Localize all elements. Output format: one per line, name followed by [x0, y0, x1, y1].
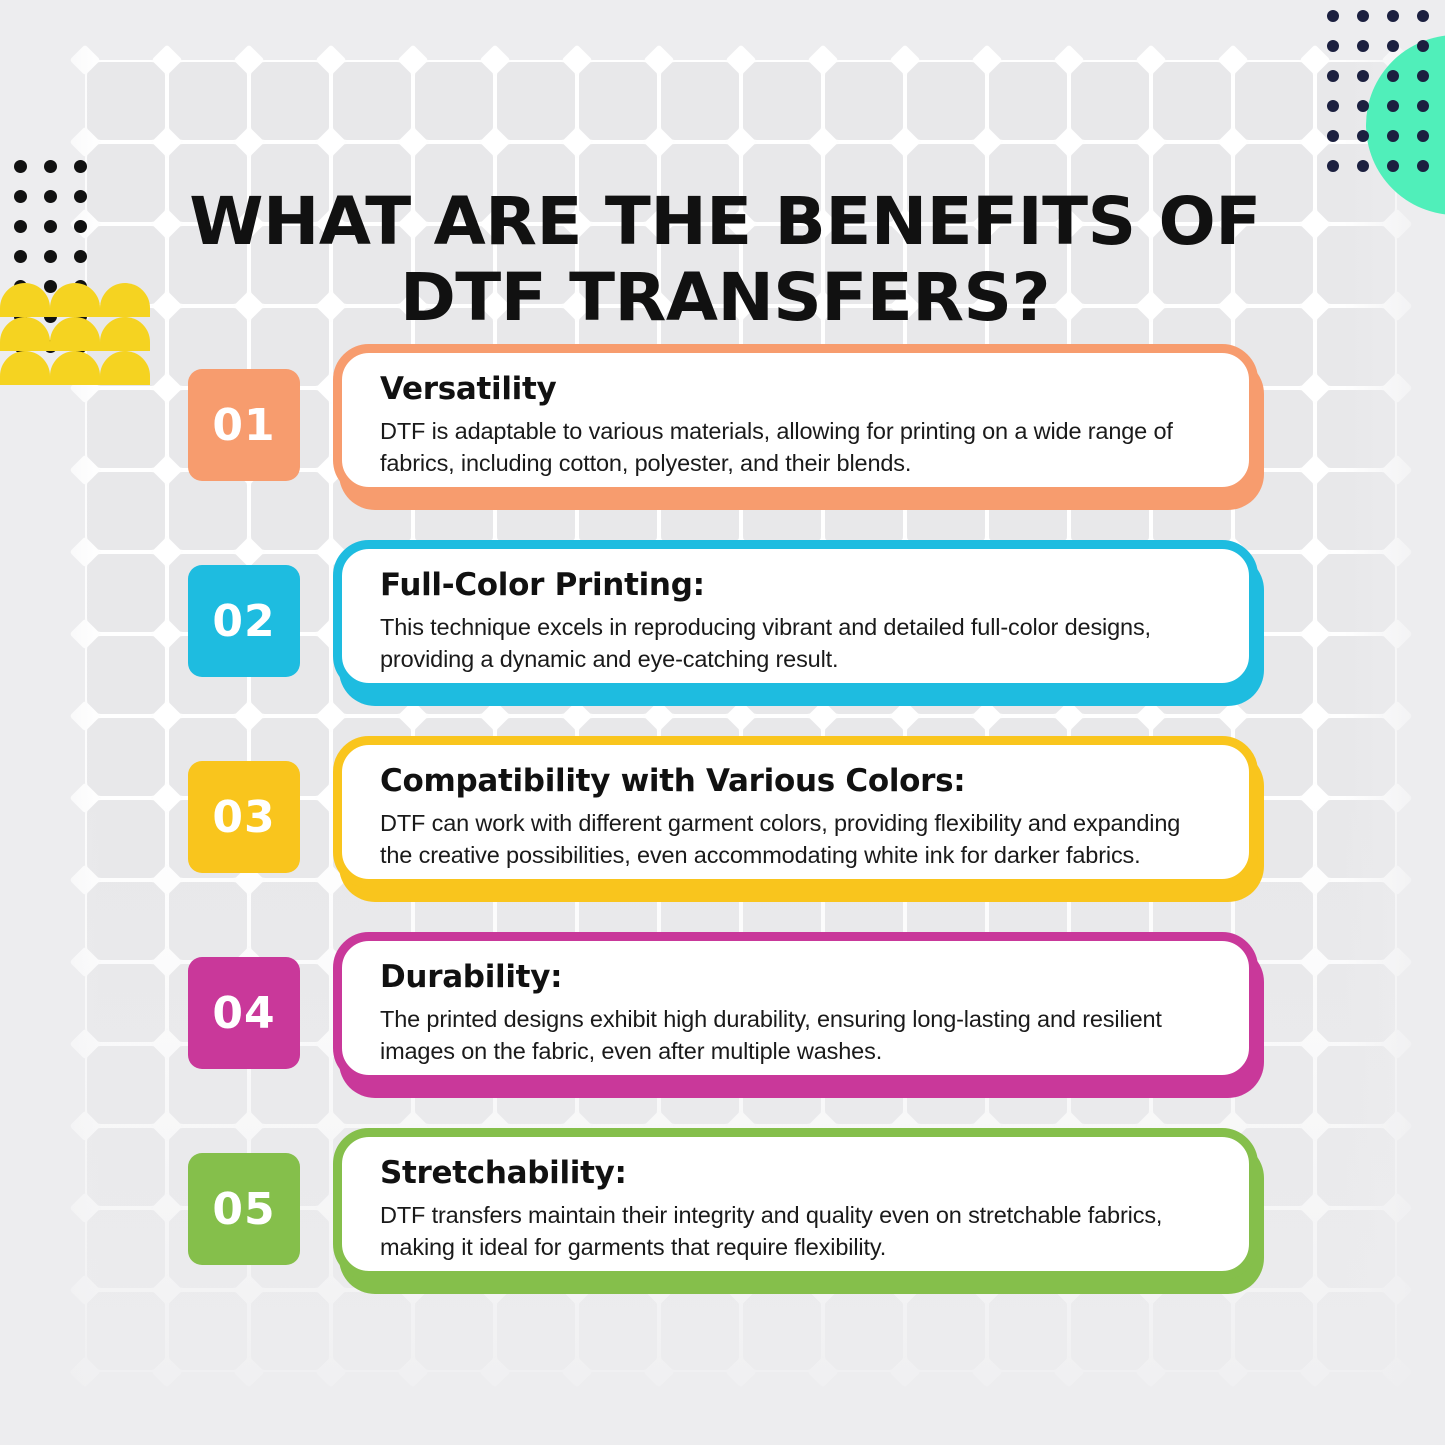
benefit-card-content: Stretchability:DTF transfers maintain th… [342, 1137, 1249, 1271]
benefits-list: 01VersatilityDTF is adaptable to various… [0, 0, 1445, 1445]
benefit-description: DTF is adaptable to various materials, a… [380, 415, 1217, 479]
benefit-item: 01VersatilityDTF is adaptable to various… [188, 344, 1278, 520]
benefit-card: Durability:The printed designs exhibit h… [333, 932, 1258, 1084]
benefit-item: 04Durability:The printed designs exhibit… [188, 932, 1278, 1108]
benefit-card-content: Compatibility with Various Colors:DTF ca… [342, 745, 1249, 879]
benefit-card-content: Durability:The printed designs exhibit h… [342, 941, 1249, 1075]
benefit-title: Stretchability: [380, 1153, 1217, 1193]
benefit-number-badge: 03 [188, 761, 300, 873]
benefit-number-label: 02 [212, 596, 275, 647]
benefit-card: Compatibility with Various Colors:DTF ca… [333, 736, 1258, 888]
benefit-description: The printed designs exhibit high durabil… [380, 1003, 1217, 1067]
benefit-title: Compatibility with Various Colors: [380, 761, 1217, 801]
benefit-number-label: 03 [212, 792, 275, 843]
benefit-number-label: 04 [212, 988, 275, 1039]
benefit-item: 03Compatibility with Various Colors:DTF … [188, 736, 1278, 912]
benefit-card-content: Full-Color Printing:This technique excel… [342, 549, 1249, 683]
benefit-description: DTF transfers maintain their integrity a… [380, 1199, 1217, 1263]
benefit-item: 05Stretchability:DTF transfers maintain … [188, 1128, 1278, 1304]
benefit-number-badge: 01 [188, 369, 300, 481]
benefit-title: Durability: [380, 957, 1217, 997]
benefit-number-badge: 04 [188, 957, 300, 1069]
benefit-title: Full-Color Printing: [380, 565, 1217, 605]
benefit-number-badge: 02 [188, 565, 300, 677]
benefit-number-label: 05 [212, 1184, 275, 1235]
benefit-number-label: 01 [212, 400, 275, 451]
benefit-description: This technique excels in reproducing vib… [380, 611, 1217, 675]
benefit-card: Stretchability:DTF transfers maintain th… [333, 1128, 1258, 1280]
benefit-card: VersatilityDTF is adaptable to various m… [333, 344, 1258, 496]
infographic-poster: WHAT ARE THE BENEFITS OF DTF TRANSFERS? … [0, 0, 1445, 1445]
benefit-card-content: VersatilityDTF is adaptable to various m… [342, 353, 1249, 487]
benefit-title: Versatility [380, 369, 1217, 409]
benefit-description: DTF can work with different garment colo… [380, 807, 1217, 871]
benefit-card: Full-Color Printing:This technique excel… [333, 540, 1258, 692]
benefit-number-badge: 05 [188, 1153, 300, 1265]
benefit-item: 02Full-Color Printing:This technique exc… [188, 540, 1278, 716]
